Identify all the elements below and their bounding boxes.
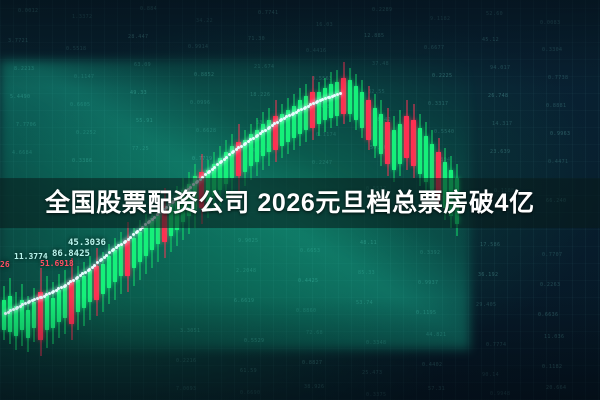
candle-body [113,250,117,282]
candle-body [411,120,416,166]
candlestick [304,84,308,142]
candlestick [323,78,327,132]
candle-body [335,82,339,116]
candlestick [101,252,105,312]
candlestick [273,100,278,162]
candlestick [38,268,43,356]
candle-body [69,282,74,324]
candlestick [255,118,259,176]
candle-body [385,122,390,164]
candle-body [57,290,61,322]
candlestick [335,70,339,126]
candle-body [329,84,333,118]
candle-body [392,130,396,170]
candle-body [360,92,364,128]
trendline-dot [129,236,132,239]
candlestick [329,72,333,128]
trendline-dot [225,156,228,159]
candlestick [261,112,265,170]
title-band: 全国股票配资公司 2026元旦档总票房破4亿 [0,178,600,228]
candlestick [392,116,396,182]
candlestick [398,110,402,176]
candlestick [45,276,49,348]
candle-body [101,264,105,294]
candle-body [125,240,130,276]
candle-body [354,86,358,120]
candle-body [107,256,111,288]
page-title: 全国股票配资公司 2026元旦档总票房破4亿 [45,191,535,216]
candle-body [82,276,86,308]
trendline-dot [93,264,96,267]
trendline-dot [105,254,108,257]
candlestick [379,100,383,166]
price-label: 51.6918 [40,259,74,268]
candle-body [317,92,321,124]
candle-body [424,136,428,182]
candlestick [132,228,136,286]
candle-body [132,238,136,268]
candlestick [69,258,74,340]
candlestick [298,88,302,146]
candlestick [32,288,36,342]
trendline-dot [213,166,216,169]
candle-body [310,92,315,128]
candlestick [404,100,409,170]
candle-body [94,266,99,300]
candlestick [360,80,364,138]
candle-body [373,108,377,146]
candlestick [94,248,99,316]
candle-body [138,232,142,262]
candlestick [385,108,390,176]
candle-body [298,100,302,134]
candle-body [2,300,6,330]
candle-body [418,128,422,174]
news-banner: 0.00121.33720.88434.220.774116.030.22899… [0,0,600,400]
price-label: 45.3036 [68,238,106,248]
candle-body [8,296,12,332]
price-label: 26 [0,260,10,269]
candlestick [348,68,352,122]
candlestick [366,86,371,150]
candle-body [45,294,49,330]
candle-body [398,124,402,164]
candlestick [411,104,416,178]
candlestick [125,222,130,292]
candle-body [379,114,383,154]
price-label: 86.8425 [52,249,90,259]
candle-body [26,310,30,338]
candle-body [304,96,308,130]
candle-body [51,298,55,328]
candlestick [267,108,271,166]
candlestick [280,104,284,158]
candle-body [404,116,409,158]
candle-body [348,80,352,114]
candle-body [88,270,92,302]
candle-body [76,280,80,312]
candlestick [310,76,315,140]
candlestick [14,292,18,350]
candlestick [373,94,377,158]
candlestick [20,284,24,346]
candlestick [354,74,358,130]
candle-body [366,100,371,140]
candlestick [249,124,253,180]
candlestick [63,270,67,334]
candle-body [32,302,36,328]
candlestick [57,274,61,338]
candlestick [418,114,422,186]
candle-body [323,88,327,120]
candle-body [144,226,148,256]
candlestick [317,82,321,136]
candle-body [341,78,346,114]
candlestick [286,98,290,154]
candle-body [63,286,67,318]
candle-body [119,244,123,276]
candlestick [341,62,346,124]
candlestick [292,94,296,150]
